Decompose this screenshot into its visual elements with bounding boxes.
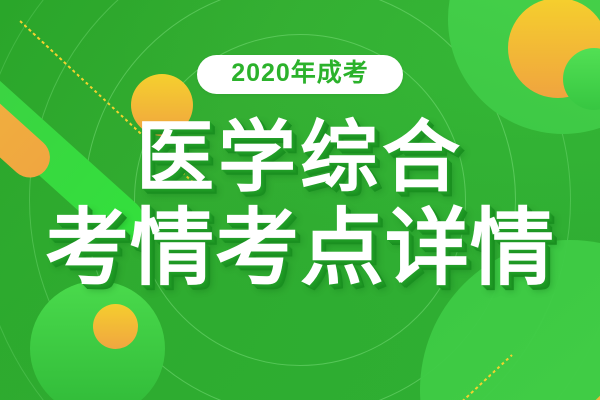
title-line-1: 医学综合 (45, 118, 555, 196)
promo-banner: 2020年成考 医学综合 考情考点详情 (0, 0, 600, 400)
year-badge: 2020年成考 (197, 55, 403, 94)
banner-title: 医学综合 考情考点详情 (45, 118, 555, 290)
banner-content: 2020年成考 医学综合 考情考点详情 (0, 0, 600, 400)
year-badge-label: 2020年成考 (231, 59, 369, 87)
title-line-2: 考情考点详情 (45, 206, 555, 290)
